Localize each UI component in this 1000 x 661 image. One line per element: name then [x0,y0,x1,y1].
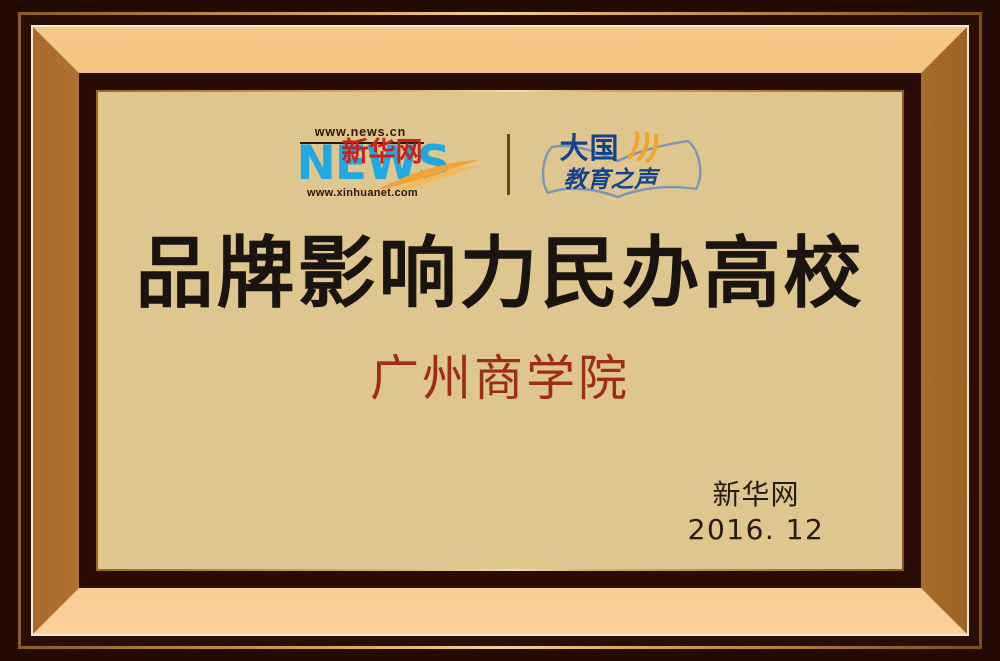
award-plaque: www.news.cn NEWS 新华网 www.xinhuanet.com 大… [0,0,1000,661]
signature-organization: 新华网 [666,478,846,512]
logo-divider [507,134,510,195]
plaque-recipient: 广州商学院 [98,354,902,403]
daguo-line2: 教育之声 [564,168,658,191]
logo-row: www.news.cn NEWS 新华网 www.xinhuanet.com 大… [98,118,902,210]
xinhua-bottom-url: www.xinhuanet.com [295,187,431,199]
daguo-line1: 大国 [560,135,620,164]
plaque-face: www.news.cn NEWS 新华网 www.xinhuanet.com 大… [98,92,902,569]
signature-date: 2016. 12 [666,512,846,548]
daguo-education-voice-logo: 大国 教育之声 [538,123,708,205]
plaque-title: 品牌影响力民办高校 [98,235,902,313]
plaque-signature: 新华网 2016. 12 [666,478,846,549]
sound-wave-icon [626,131,662,165]
xinhua-news-logo: www.news.cn NEWS 新华网 www.xinhuanet.com [293,123,493,205]
